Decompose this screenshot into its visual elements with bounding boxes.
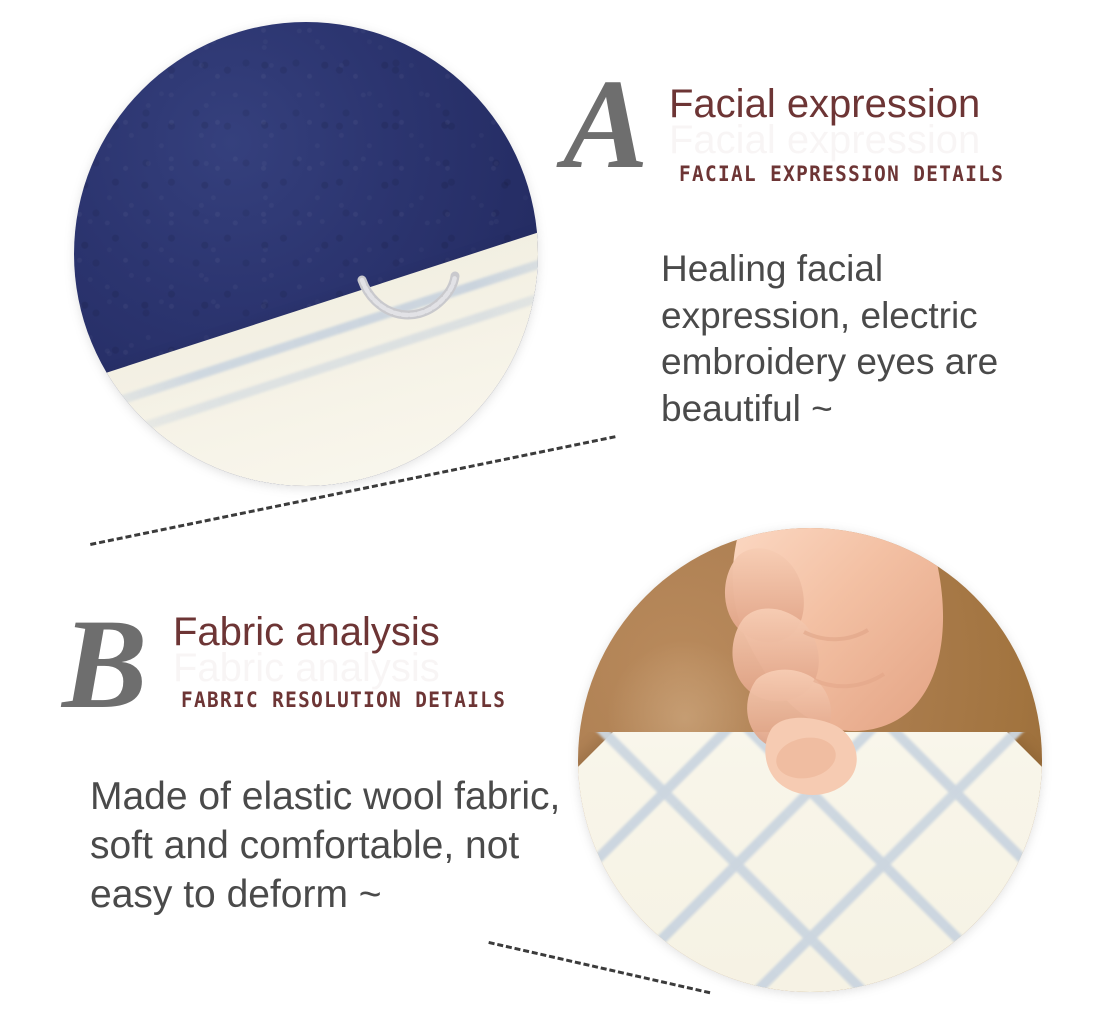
section-b-subtitle: FABRIC RESOLUTION DETAILS: [181, 688, 506, 712]
hand-icon: [708, 528, 968, 852]
section-a-body-text: Healing facial expression, electric embr…: [661, 246, 1081, 432]
section-b-title: Fabric analysis: [173, 610, 440, 655]
section-a-title: Facial expression: [669, 82, 980, 127]
section-b-letter: B: [62, 600, 145, 728]
hand-stretching-cream-fabric-photo: [578, 528, 1042, 992]
section-a-heading: A Facial expression Facial expression FA…: [0, 0, 1100, 210]
section-a-letter: A: [563, 60, 646, 188]
section-b-body-text: Made of elastic wool fabric, soft and co…: [90, 772, 650, 919]
section-a-subtitle: FACIAL EXPRESSION DETAILS: [679, 162, 1004, 186]
infographic-page: A Facial expression Facial expression FA…: [0, 0, 1100, 1010]
embroidered-eye-icon: [356, 270, 464, 332]
